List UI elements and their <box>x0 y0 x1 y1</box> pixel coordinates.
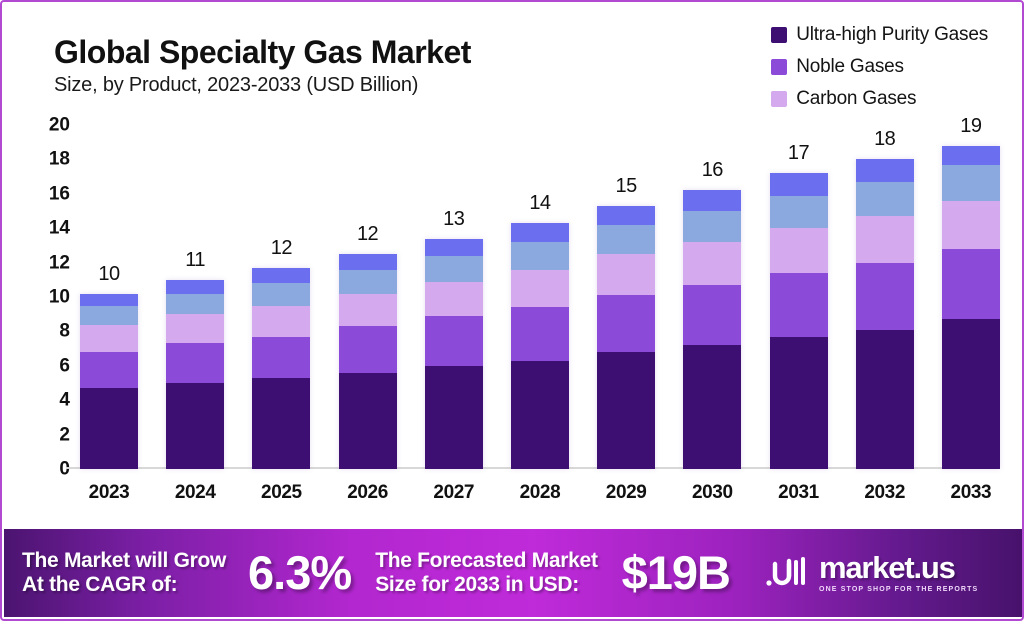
bar-segment <box>252 268 310 283</box>
y-axis-tick: 16 <box>49 184 70 203</box>
bar-stack <box>683 190 741 469</box>
bar-value-label: 18 <box>856 128 914 151</box>
bar-column[interactable]: 12 <box>339 125 397 469</box>
bar-segment <box>856 159 914 181</box>
bar-segment <box>252 283 310 305</box>
bar-segment <box>683 285 741 345</box>
bar-column[interactable]: 11 <box>166 125 224 469</box>
bar-stack <box>942 146 1000 469</box>
x-axis-tick: 2025 <box>252 482 310 512</box>
bar-segment <box>166 383 224 469</box>
bar-segment <box>425 316 483 366</box>
brand-logo[interactable]: market.us ONE STOP SHOP FOR THE REPORTS <box>764 553 978 592</box>
bar-stack <box>597 206 655 469</box>
bar-segment <box>770 228 828 273</box>
bar-segment <box>942 201 1000 249</box>
legend-label: Ultra-high Purity Gases <box>796 24 988 46</box>
infographic-root: Global Specialty Gas Market Size, by Pro… <box>0 0 1024 621</box>
page-title: Global Specialty Gas Market <box>54 36 471 70</box>
bar-segment <box>252 337 310 378</box>
bar-segment <box>339 254 397 269</box>
bar-segment <box>597 254 655 295</box>
forecast-size-label: The Forecasted Market Size for 2033 in U… <box>375 549 597 596</box>
x-axis-tick: 2033 <box>942 482 1000 512</box>
legend-swatch-icon <box>771 59 787 75</box>
page-subtitle: Size, by Product, 2023-2033 (USD Billion… <box>54 74 471 97</box>
bar-value-label: 15 <box>597 175 655 198</box>
y-axis-tick: 0 <box>59 460 70 479</box>
y-axis-tick: 18 <box>49 150 70 169</box>
bar-column[interactable]: 12 <box>252 125 310 469</box>
bar-column[interactable]: 19 <box>942 125 1000 469</box>
legend-item[interactable]: Noble Gases <box>771 56 904 78</box>
bar-segment <box>339 326 397 372</box>
bar-segment <box>339 373 397 469</box>
bar-segment <box>80 352 138 388</box>
bar-segment <box>856 216 914 262</box>
bar-segment <box>683 242 741 285</box>
y-axis-tick: 14 <box>49 219 70 238</box>
bar-segment <box>252 378 310 469</box>
bar-stack <box>425 239 483 469</box>
y-axis-tick: 6 <box>59 356 70 375</box>
bar-value-label: 19 <box>942 115 1000 138</box>
bar-segment <box>856 182 914 216</box>
bar-value-label: 12 <box>339 223 397 246</box>
y-axis-tick: 4 <box>59 391 70 410</box>
legend-item[interactable]: Ultra-high Purity Gases <box>771 24 988 46</box>
bar-segment <box>770 196 828 229</box>
bar-stack <box>166 280 224 469</box>
bar-segment <box>339 270 397 294</box>
bar-segment <box>80 388 138 469</box>
bar-column[interactable]: 13 <box>425 125 483 469</box>
bar-segment <box>683 211 741 242</box>
y-axis-tick: 2 <box>59 425 70 444</box>
bar-segment <box>511 270 569 308</box>
bar-segment <box>80 306 138 325</box>
bar-value-label: 14 <box>511 192 569 215</box>
bar-segment <box>942 165 1000 201</box>
bar-value-label: 12 <box>252 237 310 260</box>
footer-banner: The Market will Grow At the CAGR of: 6.3… <box>4 529 1022 617</box>
bar-segment <box>166 280 224 294</box>
bar-segment <box>511 242 569 270</box>
y-axis: 20181614121086420 <box>24 114 70 480</box>
x-axis-tick: 2024 <box>166 482 224 512</box>
bar-segment <box>770 273 828 337</box>
cagr-value: 6.3% <box>248 547 351 600</box>
bar-segment <box>942 249 1000 320</box>
brand-tagline: ONE STOP SHOP FOR THE REPORTS <box>819 586 978 593</box>
bar-segment <box>770 173 828 195</box>
bar-segment <box>425 282 483 316</box>
x-axis-tick: 2032 <box>856 482 914 512</box>
bar-column[interactable]: 18 <box>856 125 914 469</box>
y-axis-tick: 8 <box>59 322 70 341</box>
market-us-logo-icon <box>764 556 810 590</box>
cagr-label-line2: At the CAGR of: <box>22 573 226 597</box>
title-block: Global Specialty Gas Market Size, by Pro… <box>54 36 471 97</box>
x-axis-tick: 2030 <box>683 482 741 512</box>
chart-header: Global Specialty Gas Market Size, by Pro… <box>2 2 1024 114</box>
bar-stack <box>339 254 397 469</box>
bar-column[interactable]: 17 <box>770 125 828 469</box>
legend-label: Carbon Gases <box>796 88 916 110</box>
brand-text: market.us ONE STOP SHOP FOR THE REPORTS <box>819 553 978 592</box>
bar-column[interactable]: 16 <box>683 125 741 469</box>
bar-segment <box>425 256 483 282</box>
bar-column[interactable]: 10 <box>80 125 138 469</box>
y-axis-tick: 20 <box>49 116 70 135</box>
bar-segment <box>597 295 655 352</box>
bar-segment <box>166 343 224 383</box>
bar-segment <box>683 190 741 211</box>
legend-item[interactable]: Carbon Gases <box>771 88 916 110</box>
bar-stack <box>80 294 138 469</box>
bar-segment <box>597 225 655 254</box>
bar-segment <box>80 294 138 306</box>
bar-column[interactable]: 14 <box>511 125 569 469</box>
bar-segment <box>942 146 1000 165</box>
bar-value-label: 11 <box>166 249 224 272</box>
cagr-label-line1: The Market will Grow <box>22 549 226 573</box>
bar-segment <box>597 206 655 225</box>
bar-segment <box>425 239 483 256</box>
x-axis-tick: 2028 <box>511 482 569 512</box>
x-axis-tick: 2026 <box>339 482 397 512</box>
plot-area: 20181614121086420 1011121213141516171819 <box>80 125 1000 469</box>
bar-segment <box>511 361 569 469</box>
bar-stack <box>511 223 569 469</box>
bar-segment <box>166 294 224 315</box>
bar-segment <box>942 319 1000 469</box>
y-axis-tick: 10 <box>49 288 70 307</box>
size-label-line1: The Forecasted Market <box>375 549 597 573</box>
bar-value-label: 17 <box>770 142 828 165</box>
bar-segment <box>252 306 310 337</box>
x-axis-tick: 2023 <box>80 482 138 512</box>
forecast-size-value: $19B <box>622 547 730 600</box>
y-axis-tick: 12 <box>49 253 70 272</box>
bar-stack <box>856 159 914 469</box>
bar-stack <box>770 173 828 469</box>
bar-segment <box>770 337 828 469</box>
x-axis: 2023202420252026202720282029203020312032… <box>80 482 1000 512</box>
bar-segment <box>683 345 741 469</box>
bar-segment <box>166 314 224 343</box>
x-axis-tick: 2031 <box>770 482 828 512</box>
legend-swatch-icon <box>771 91 787 107</box>
bar-value-label: 10 <box>80 263 138 286</box>
bar-segment <box>597 352 655 469</box>
bar-value-label: 16 <box>683 159 741 182</box>
chart-legend: Ultra-high Purity GasesNoble GasesCarbon… <box>771 24 988 110</box>
bar-segment <box>425 366 483 469</box>
brand-name: market.us <box>819 553 978 582</box>
legend-label: Noble Gases <box>796 56 904 78</box>
bar-segment <box>80 325 138 353</box>
bar-segment <box>856 263 914 330</box>
bar-series-group: 1011121213141516171819 <box>80 125 1000 469</box>
legend-swatch-icon <box>771 27 787 43</box>
cagr-label: The Market will Grow At the CAGR of: <box>22 549 226 596</box>
size-label-line2: Size for 2033 in USD: <box>375 573 597 597</box>
bar-segment <box>511 307 569 360</box>
x-axis-tick: 2027 <box>425 482 483 512</box>
bar-segment <box>856 330 914 469</box>
bar-value-label: 13 <box>425 208 483 231</box>
x-axis-tick: 2029 <box>597 482 655 512</box>
bar-segment <box>339 294 397 327</box>
bar-stack <box>252 268 310 469</box>
bar-column[interactable]: 15 <box>597 125 655 469</box>
bar-segment <box>511 223 569 242</box>
